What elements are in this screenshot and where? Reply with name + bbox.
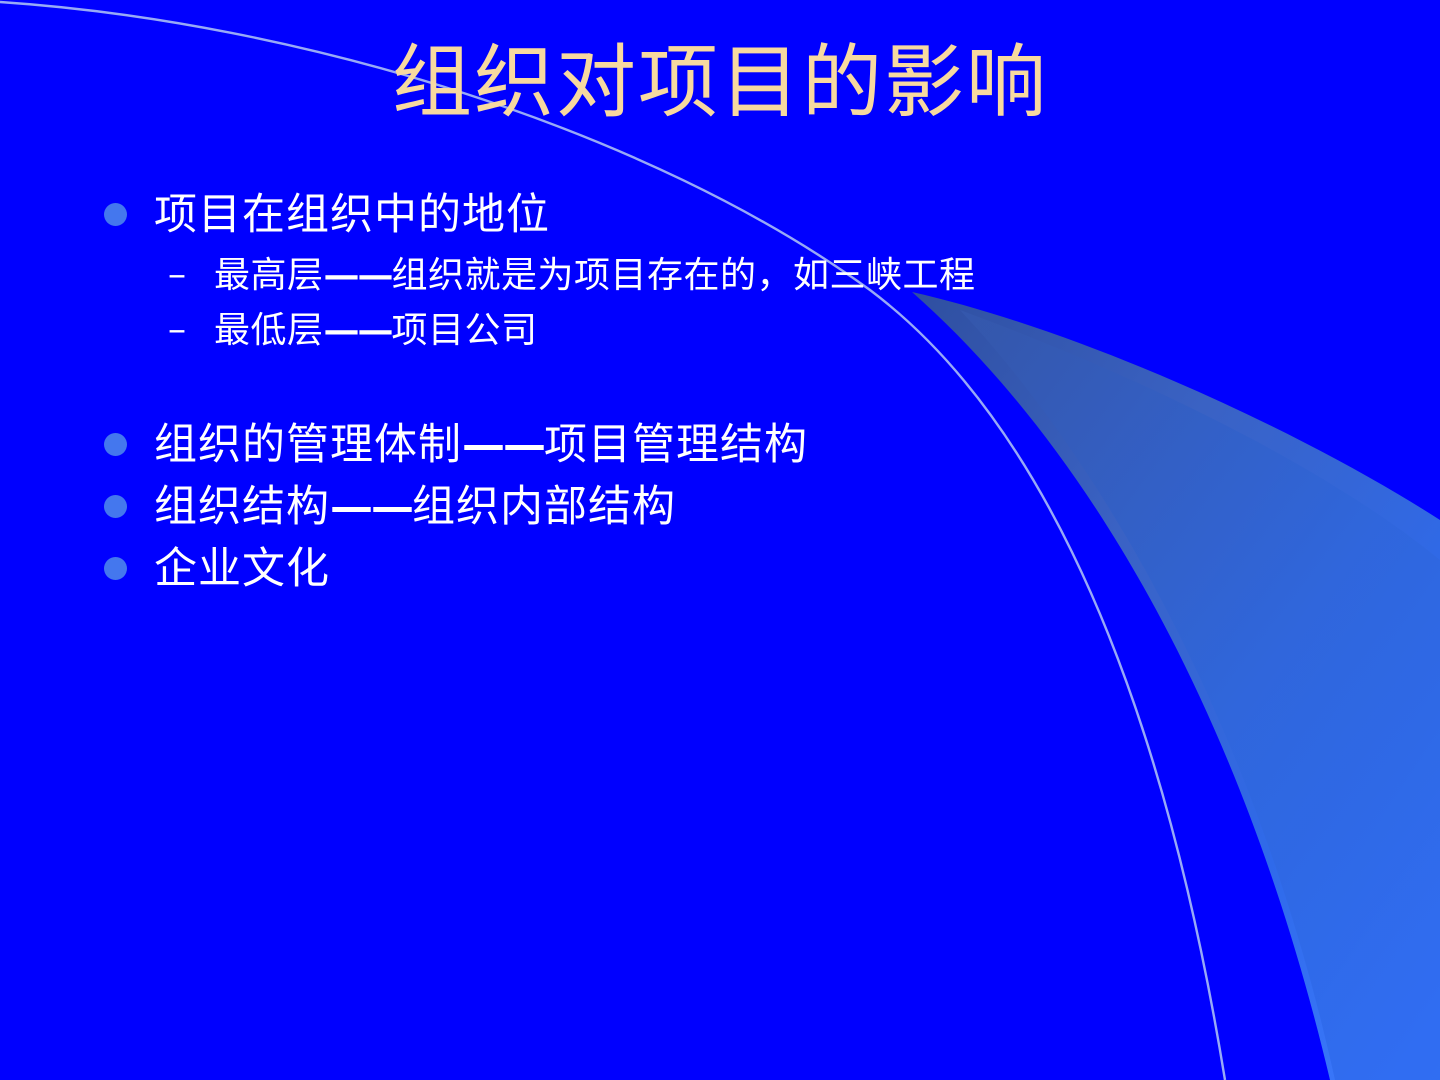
bullet-text-post: 组织就是为项目存在的，如三峡工程: [392, 255, 976, 296]
bullet-text-dash: ——: [462, 420, 544, 470]
dash-bullet-icon: –: [168, 303, 186, 357]
bullet-text-pre: 组织的管理体制: [154, 420, 462, 470]
list-item: – 最高层——组织就是为项目存在的，如三峡工程: [96, 248, 1356, 303]
bullet-text: 企业文化: [154, 540, 330, 598]
disc-bullet-icon: [104, 557, 127, 580]
bullet-text: 组织的管理体制——项目管理结构: [154, 416, 808, 474]
list-item: – 最低层——项目公司: [96, 303, 1356, 358]
list-item: 组织的管理体制——项目管理结构: [96, 416, 1356, 474]
bullet-text-dash: ——: [324, 309, 392, 351]
page-title: 组织对项目的影响: [392, 40, 1048, 126]
blank-line-spacer: [96, 358, 1356, 416]
bullet-text-pre: 最高层: [214, 255, 324, 296]
title-block: 组织对项目的影响: [0, 40, 1440, 126]
bullet-text-post: 组织内部结构: [412, 482, 676, 532]
list-item: 组织结构——组织内部结构: [96, 478, 1356, 536]
disc-bullet-icon: [104, 433, 127, 456]
list-item: 项目在组织中的地位: [96, 186, 1356, 244]
presentation-slide: 组织对项目的影响 项目在组织中的地位 – 最高层——组织就是为项目存在的，如三峡…: [0, 0, 1440, 1080]
bullet-text: 项目在组织中的地位: [154, 186, 550, 244]
bullet-text-dash: ——: [330, 482, 412, 532]
bullet-text-dash: ——: [324, 254, 392, 296]
content-body: 项目在组织中的地位 – 最高层——组织就是为项目存在的，如三峡工程 – 最低层—…: [96, 186, 1356, 602]
dash-bullet-icon: –: [168, 248, 186, 302]
bullet-text-pre: 组织结构: [154, 482, 330, 532]
bullet-text: 组织结构——组织内部结构: [154, 478, 676, 536]
bullet-text: 最高层——组织就是为项目存在的，如三峡工程: [174, 248, 976, 303]
bullet-text: 最低层——项目公司: [174, 303, 538, 358]
disc-bullet-icon: [104, 203, 127, 226]
bullet-text-post: 项目公司: [392, 310, 538, 351]
list-item: 企业文化: [96, 540, 1356, 598]
bullet-text-post: 项目管理结构: [544, 420, 808, 470]
bullet-text-pre: 最低层: [214, 310, 324, 351]
disc-bullet-icon: [104, 495, 127, 518]
